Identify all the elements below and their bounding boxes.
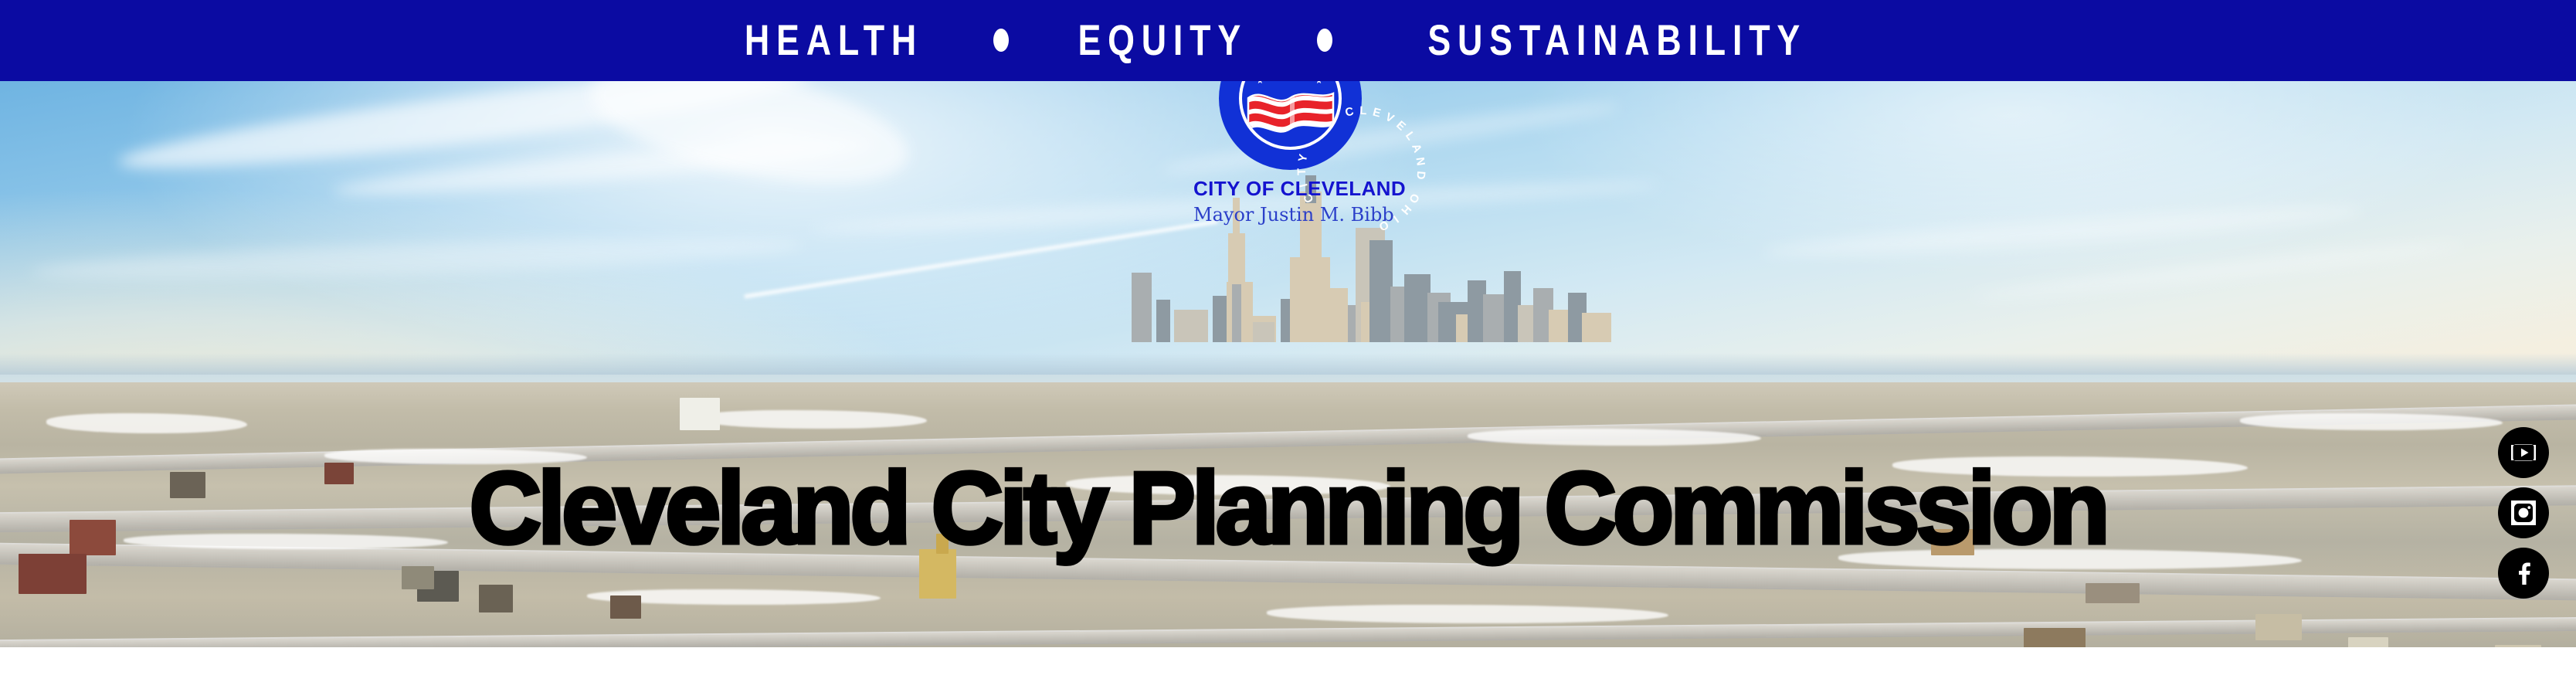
mayor-name: Mayor Justin M. Bibb xyxy=(1193,204,1386,226)
bottom-white-strip xyxy=(0,647,2576,682)
page-title-text: Cleveland City Planning Commission xyxy=(470,457,2106,559)
bullet-dot-icon xyxy=(1317,29,1332,52)
seal-ring-char: C xyxy=(1344,104,1355,119)
tagline-word-equity: EQUITY xyxy=(1078,19,1247,62)
youtube-link[interactable] xyxy=(2498,427,2549,478)
seal-ring-char: E xyxy=(1371,105,1382,120)
tagline-banner: HEALTH EQUITY SUSTAINABILITY xyxy=(0,0,2576,81)
tagline-word-health: HEALTH xyxy=(745,19,923,62)
bullet-dot-icon xyxy=(993,29,1009,52)
seal-ring-char: D xyxy=(1414,170,1427,179)
seal-ring-char: N xyxy=(1413,156,1427,166)
social-links xyxy=(2498,427,2549,599)
facebook-icon xyxy=(2508,558,2539,589)
youtube-icon xyxy=(2508,437,2539,468)
seal-ring-char: Y xyxy=(1296,152,1311,162)
instagram-link[interactable] xyxy=(2498,487,2549,538)
seal-ring-char: T xyxy=(1295,168,1308,175)
page-title: Cleveland City Planning Commission xyxy=(0,457,2576,559)
tagline-banner-inner: HEALTH EQUITY SUSTAINABILITY xyxy=(722,19,1854,62)
page-root: HEALTH EQUITY SUSTAINABILITY xyxy=(0,0,2576,682)
facebook-link[interactable] xyxy=(2498,548,2549,599)
tagline-word-sustainability: SUSTAINABILITY xyxy=(1427,19,1807,62)
instagram-icon xyxy=(2508,497,2539,528)
waving-us-flag-icon xyxy=(1245,84,1336,143)
seal-ring-char: L xyxy=(1359,103,1367,117)
org-name: CITY OF CLEVELAND xyxy=(1193,177,1386,201)
